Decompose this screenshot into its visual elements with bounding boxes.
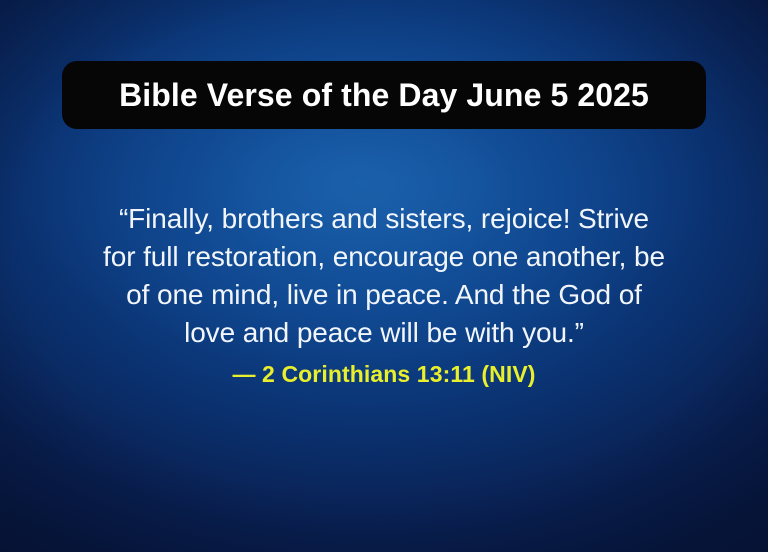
verse-card: Bible Verse of the Day June 5 2025 “Fina… <box>0 0 768 552</box>
verse-line: “Finally, brothers and sisters, rejoice!… <box>74 200 694 238</box>
verse-citation: — 2 Corinthians 13:11 (NIV) <box>74 359 694 389</box>
verse-block: “Finally, brothers and sisters, rejoice!… <box>74 200 694 389</box>
verse-line: love and peace will be with you.” <box>74 314 694 352</box>
page-title: Bible Verse of the Day June 5 2025 <box>119 79 649 111</box>
title-banner: Bible Verse of the Day June 5 2025 <box>62 61 706 129</box>
verse-line: of one mind, live in peace. And the God … <box>74 276 694 314</box>
verse-line: for full restoration, encourage one anot… <box>74 238 694 276</box>
